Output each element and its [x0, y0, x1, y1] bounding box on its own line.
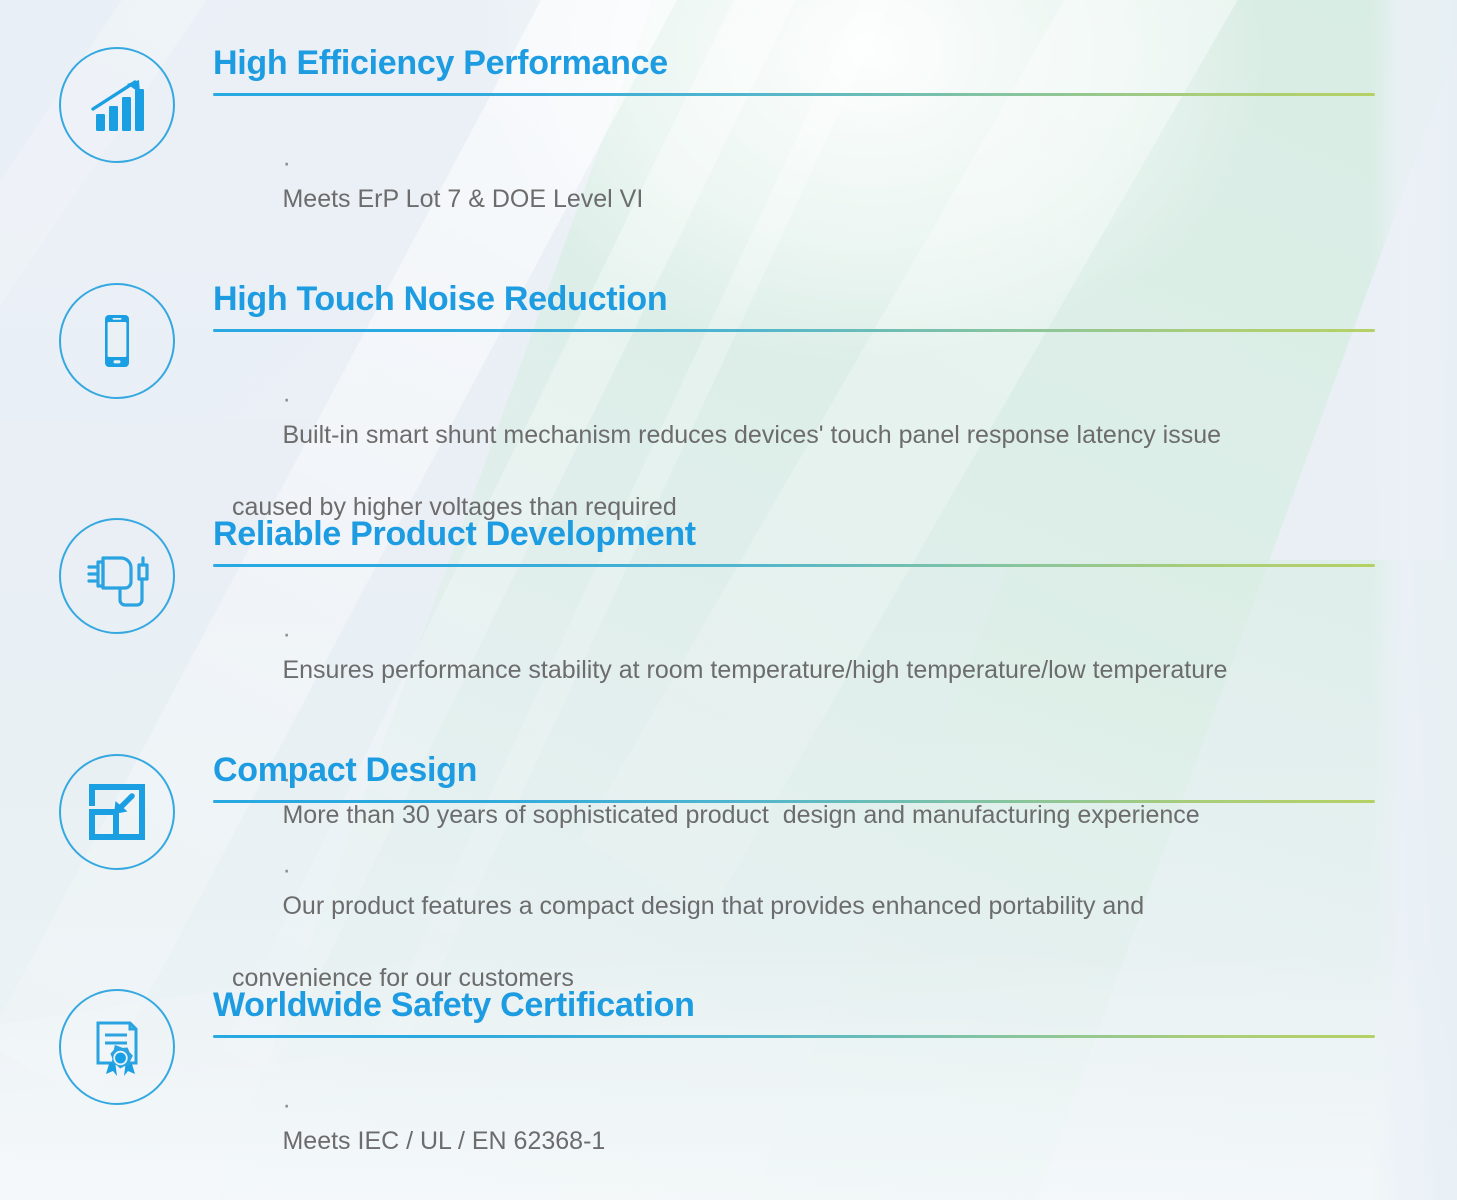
feature-icon-wrap	[57, 987, 177, 1107]
feature-bullets: · Meets IEC / UL / EN 62368-1	[213, 1050, 1375, 1195]
feature-title: Worldwide Safety Certification	[213, 987, 1375, 1024]
bullet-text: Our product features a compact design th…	[282, 892, 1144, 920]
certificate-seal-icon	[59, 989, 175, 1105]
feature-title: Compact Design	[213, 752, 1375, 789]
bullet-text: Meets IEC / UL / EN 62368-1	[282, 1127, 605, 1155]
feature-icon-wrap	[57, 45, 177, 165]
feature-title: Reliable Product Development	[213, 516, 1375, 553]
feature-icon-wrap	[57, 281, 177, 401]
smartphone-icon	[59, 283, 175, 399]
power-adapter-icon	[59, 518, 175, 634]
feature-title: High Efficiency Performance	[213, 45, 1375, 82]
bullet-text: Ensures performance stability at room te…	[282, 656, 1227, 684]
feature-divider	[213, 93, 1375, 96]
compact-resize-icon	[59, 754, 175, 870]
bullet-marker: ·	[282, 1091, 297, 1119]
bullet-text: Built-in smart shunt mechanism reduces d…	[282, 421, 1221, 449]
bullet-marker: ·	[282, 149, 297, 177]
feature-divider	[213, 329, 1375, 332]
feature-bullets: · Meets ErP Lot 7 & DOE Level VI	[213, 108, 1375, 253]
feature-icon-wrap	[57, 516, 177, 636]
feature-icon-wrap	[57, 752, 177, 872]
bullet-item: · Meets IEC / UL / EN 62368-1	[213, 1050, 1375, 1195]
bullet-item: · Ensures performance stability at room …	[213, 579, 1375, 724]
feature-body: Worldwide Safety Certification · Meets I…	[213, 987, 1375, 1195]
bullet-item: · Meets ErP Lot 7 & DOE Level VI	[213, 108, 1375, 253]
feature-list: High Efficiency Performance · Meets ErP …	[0, 0, 1457, 1200]
bullet-marker: ·	[282, 856, 297, 884]
bullet-text: Meets ErP Lot 7 & DOE Level VI	[282, 185, 643, 213]
feature-divider	[213, 564, 1375, 567]
bullet-marker: ·	[282, 385, 297, 413]
feature-divider	[213, 800, 1375, 803]
feature-title: High Touch Noise Reduction	[213, 281, 1375, 318]
feature-divider	[213, 1035, 1375, 1038]
bullet-marker: ·	[282, 620, 297, 648]
bar-chart-growth-icon	[59, 47, 175, 163]
feature-body: High Efficiency Performance · Meets ErP …	[213, 45, 1375, 253]
